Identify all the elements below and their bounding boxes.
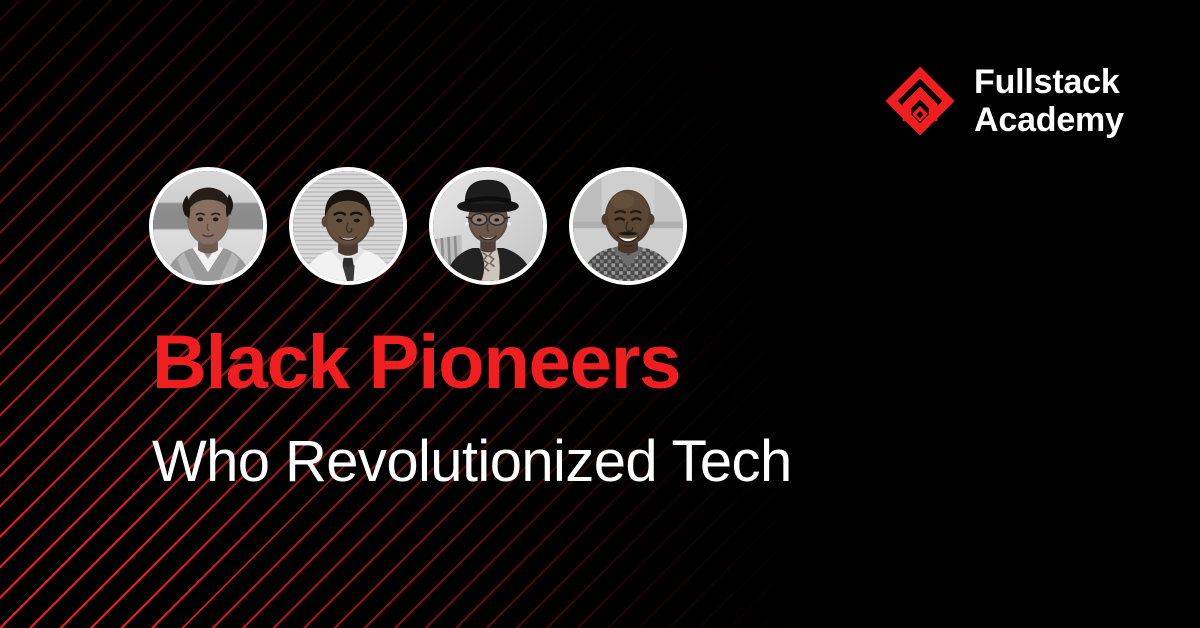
portrait-4-image — [573, 171, 683, 281]
portrait-2 — [289, 167, 407, 285]
page-title: Black Pioneers — [152, 325, 1052, 401]
logo-word-line2: Academy — [974, 101, 1124, 139]
headline-block: Black Pioneers Who Revolutionized Tech — [152, 325, 1052, 491]
portrait-3 — [429, 167, 547, 285]
portrait-3-image — [433, 171, 543, 281]
portrait-1 — [149, 167, 267, 285]
banner: Fullstack Academy — [0, 0, 1200, 628]
fullstack-diamond-logo-icon — [884, 65, 956, 137]
logo-word-line1: Fullstack — [974, 63, 1124, 101]
logo-wordmark: Fullstack Academy — [974, 63, 1124, 139]
portrait-2-image — [293, 171, 403, 281]
page-subtitle: Who Revolutionized Tech — [152, 433, 1052, 491]
portrait-4 — [569, 167, 687, 285]
fullstack-academy-logo[interactable]: Fullstack Academy — [884, 63, 1124, 139]
portrait-row — [149, 167, 687, 285]
portrait-1-image — [153, 171, 263, 281]
